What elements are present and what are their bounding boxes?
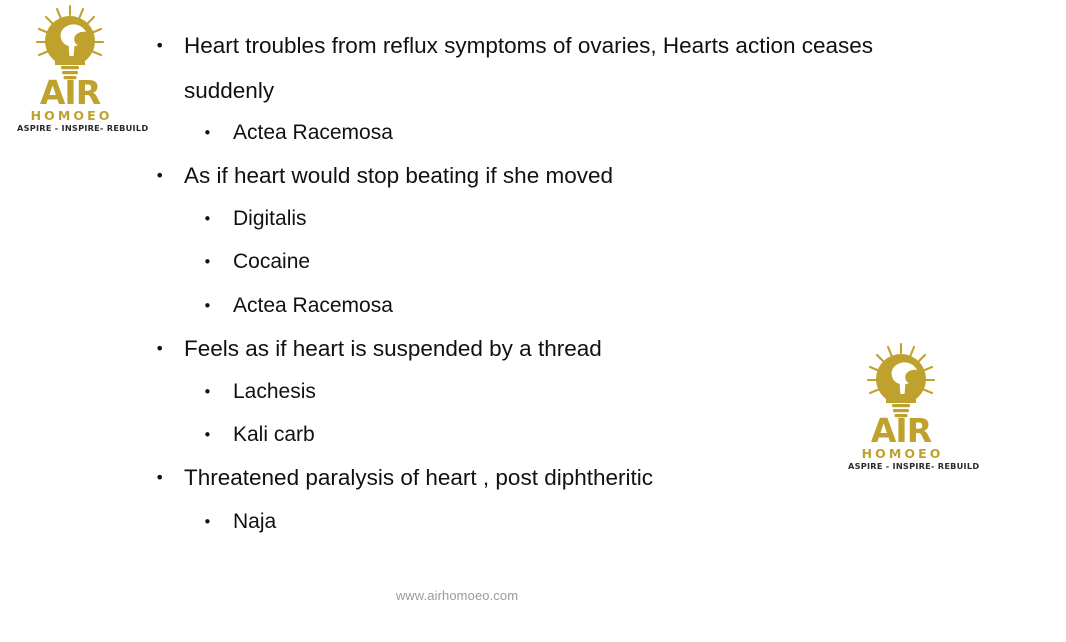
list-item-label: Cocaine [233, 248, 310, 276]
bullet-marker-icon: • [203, 378, 233, 406]
bullet-marker-icon: • [203, 292, 233, 320]
list-item-label: Kali carb [233, 421, 315, 449]
list-item: • Actea Racemosa [203, 292, 393, 320]
list-item-label: Lachesis [233, 378, 316, 406]
logo-subbrand-text: HOMOEO [17, 108, 123, 123]
footer-website-url: www.airhomoeo.com [0, 588, 1066, 603]
list-item: • Digitalis [203, 205, 307, 233]
list-item: • Lachesis [203, 378, 316, 406]
brand-logo-watermark: AIR HOMOEO ASPIRE - INSPIRE- REBUILD [848, 342, 954, 466]
list-item-label: Actea Racemosa [233, 292, 393, 320]
list-item: • Actea Racemosa [203, 119, 393, 147]
list-item-label: Naja [233, 508, 276, 536]
bullet-marker-icon: • [155, 463, 184, 493]
bullet-marker-icon: • [155, 161, 184, 191]
bullet-marker-icon: • [203, 508, 233, 536]
logo-brand-text: AIR [17, 78, 123, 108]
list-item-label: Heart troubles from reflux symptoms of o… [184, 31, 873, 61]
list-item: • Cocaine [203, 248, 310, 276]
list-item: • Heart troubles from reflux symptoms of… [155, 31, 873, 61]
slide-canvas: AIR HOMOEO ASPIRE - INSPIRE- REBUILD [0, 0, 1066, 642]
list-item-label: Feels as if heart is suspended by a thre… [184, 334, 602, 364]
list-item: • As if heart would stop beating if she … [155, 161, 613, 191]
lightbulb-logo-icon [17, 4, 123, 80]
footer-url-text: www.airhomoeo.com [396, 588, 518, 603]
bullet-marker-icon: • [203, 205, 233, 233]
bullet-marker-icon: • [155, 31, 184, 61]
bullet-marker-icon: • [203, 119, 233, 147]
list-item-label: As if heart would stop beating if she mo… [184, 161, 613, 191]
list-item-label: Actea Racemosa [233, 119, 393, 147]
bullet-marker-icon: • [155, 334, 184, 364]
lightbulb-logo-icon [848, 342, 954, 418]
logo-tagline-text: ASPIRE - INSPIRE- REBUILD [17, 123, 123, 134]
bullet-marker-icon: • [203, 421, 233, 449]
logo-subbrand-text: HOMOEO [848, 446, 954, 461]
list-item: • Naja [203, 508, 276, 536]
list-item: • Feels as if heart is suspended by a th… [155, 334, 602, 364]
bullet-marker-icon: • [203, 248, 233, 276]
list-item: • Kali carb [203, 421, 315, 449]
list-item-continuation: suddenly [184, 76, 274, 106]
logo-tagline-text: ASPIRE - INSPIRE- REBUILD [848, 461, 954, 472]
list-item: • Threatened paralysis of heart , post d… [155, 463, 653, 493]
brand-logo: AIR HOMOEO ASPIRE - INSPIRE- REBUILD [17, 4, 123, 128]
list-item-label: Threatened paralysis of heart , post dip… [184, 463, 653, 493]
logo-brand-text: AIR [848, 416, 954, 446]
list-item-label: Digitalis [233, 205, 307, 233]
